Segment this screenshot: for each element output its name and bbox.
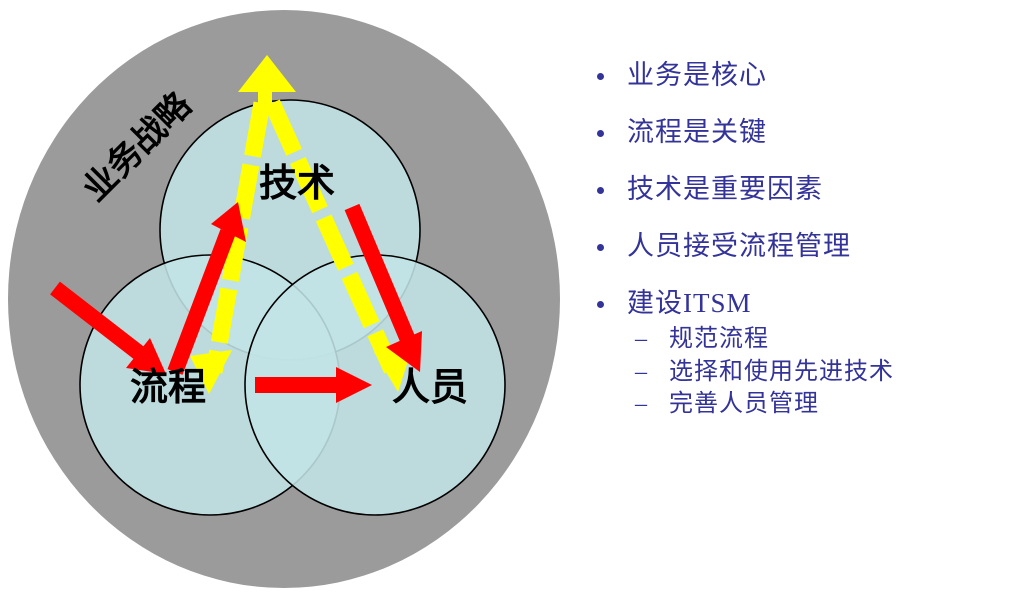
sub-bullet-text-2: 选择和使用先进技术 xyxy=(669,359,894,385)
dash-icon: – xyxy=(635,323,648,355)
venn-svg: 业务战略 xyxy=(0,0,570,604)
bullet-dot-icon xyxy=(597,301,604,308)
slide-canvas: 业务战略 xyxy=(0,0,1024,604)
bullet-item-2[interactable]: 流程是关键 xyxy=(575,117,1020,148)
sub-bullet-item-1[interactable]: – 规范流程 xyxy=(627,323,1020,355)
bullet-item-1[interactable]: 业务是核心 xyxy=(575,60,1020,91)
circle-label-people: 人员 xyxy=(392,367,468,409)
bullet-item-3[interactable]: 技术是重要因素 xyxy=(575,174,1020,205)
sub-bullet-text-1: 规范流程 xyxy=(669,326,769,352)
bullet-dot-icon xyxy=(597,244,604,251)
circle-label-process: 流程 xyxy=(130,367,206,409)
dash-icon: – xyxy=(635,356,648,388)
dash-icon: – xyxy=(635,388,648,420)
sub-bullet-text-3: 完善人员管理 xyxy=(669,391,819,417)
bullet-list: 业务是核心 流程是关键 技术是重要因素 人员接受流程管理 建设ITSM – xyxy=(575,60,1020,420)
bullet-panel: 业务是核心 流程是关键 技术是重要因素 人员接受流程管理 建设ITSM – xyxy=(575,60,1020,480)
bullet-text-1: 业务是核心 xyxy=(627,60,767,90)
sub-bullet-item-2[interactable]: – 选择和使用先进技术 xyxy=(627,356,1020,388)
bullet-dot-icon xyxy=(597,130,604,137)
bullet-text-4: 人员接受流程管理 xyxy=(627,231,851,261)
bullet-dot-icon xyxy=(597,187,604,194)
sub-bullet-list: – 规范流程 – 选择和使用先进技术 – 完善人员管理 xyxy=(627,323,1020,420)
bullet-item-4[interactable]: 人员接受流程管理 xyxy=(575,231,1020,262)
bullet-item-5[interactable]: 建设ITSM – 规范流程 – 选择和使用先进技术 – 完善人员管理 xyxy=(575,288,1020,420)
circle-label-technology: 技术 xyxy=(259,163,335,205)
bullet-dot-icon xyxy=(597,73,604,80)
bullet-text-2: 流程是关键 xyxy=(627,117,767,147)
venn-diagram: 业务战略 xyxy=(0,0,570,604)
bullet-text-5: 建设ITSM xyxy=(627,288,752,318)
sub-bullet-item-3[interactable]: – 完善人员管理 xyxy=(627,388,1020,420)
bullet-text-3: 技术是重要因素 xyxy=(627,174,823,204)
